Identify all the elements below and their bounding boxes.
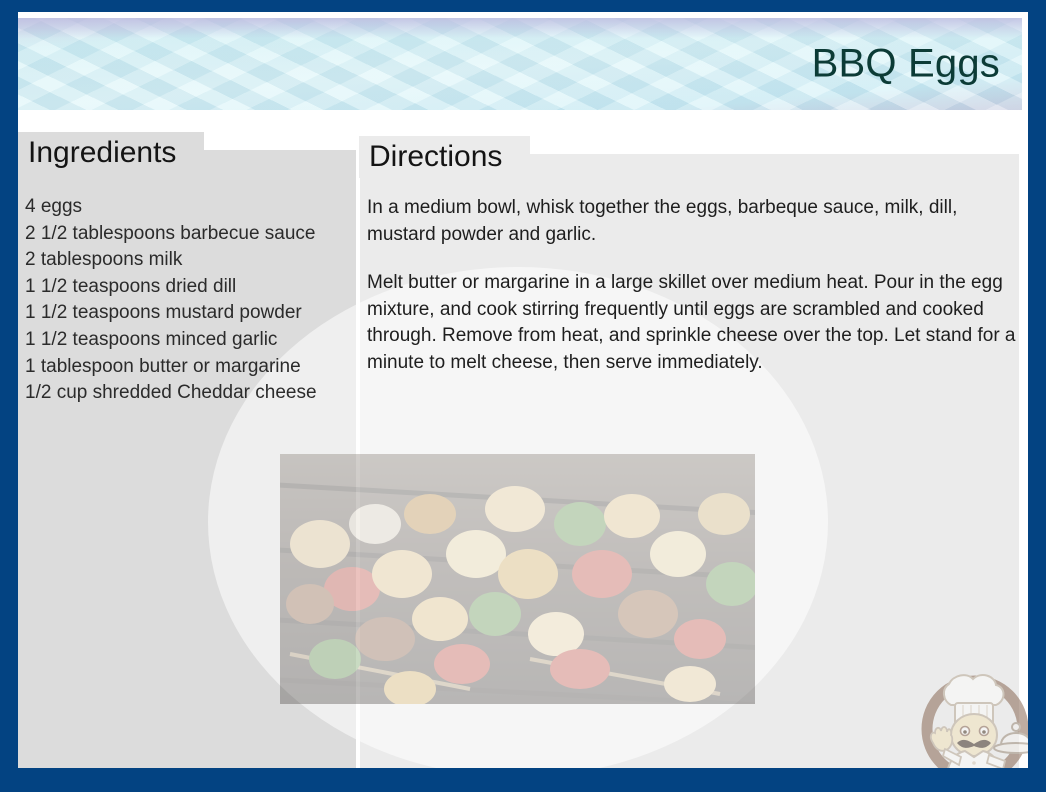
tab-directions[interactable]: Directions [359,136,530,178]
tab-directions-label: Directions [369,140,502,174]
chef-mascot-icon [913,657,1028,768]
page-title: BBQ Eggs [812,42,1000,87]
recipe-slide: BBQ Eggs [0,0,1046,792]
tab-ingredients-label: Ingredients [28,136,176,170]
header-banner: BBQ Eggs [18,18,1022,110]
grilled-kebabs-photo [280,454,755,704]
directions-paragraph-1: In a medium bowl, whisk together the egg… [367,195,1017,248]
directions-text: In a medium bowl, whisk together the egg… [367,195,1017,377]
ingredients-list: 4 eggs 2 1/2 tablespoons barbecue sauce … [25,194,355,407]
tab-ingredients[interactable]: Ingredients [18,132,204,174]
slide-canvas: BBQ Eggs [18,12,1028,768]
directions-paragraph-2: Melt butter or margarine in a large skil… [367,270,1017,376]
